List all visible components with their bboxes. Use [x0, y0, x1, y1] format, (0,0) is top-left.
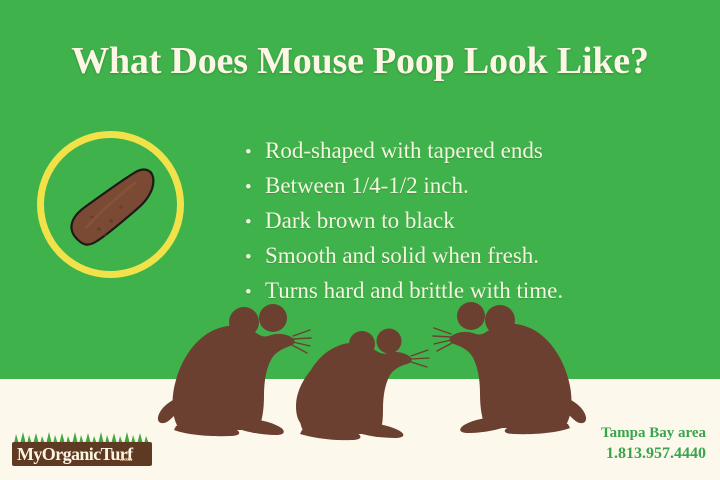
logo-tld: .com: [120, 457, 132, 464]
characteristics-list: • Rod-shaped with tapered ends • Between…: [245, 133, 705, 308]
list-item: • Smooth and solid when fresh.: [245, 238, 705, 273]
service-area-label: Tampa Bay area: [601, 423, 706, 443]
contact-block: Tampa Bay area 1.813.957.4440: [601, 423, 706, 464]
list-item-label: Rod-shaped with tapered ends: [265, 133, 543, 168]
infographic-poster: What Does Mouse Poop Look Like? • Rod-sh…: [0, 0, 720, 480]
list-item: • Rod-shaped with tapered ends: [245, 133, 705, 168]
dropping-badge: [37, 131, 184, 278]
page-title: What Does Mouse Poop Look Like?: [0, 38, 720, 84]
bullet-marker-icon: •: [245, 275, 265, 310]
list-item-label: Dark brown to black: [265, 203, 455, 238]
logo-wordmark: MyOrganicTurf: [17, 443, 133, 465]
list-item: • Dark brown to black: [245, 203, 705, 238]
bullet-marker-icon: •: [245, 170, 265, 205]
list-item-label: Between 1/4-1/2 inch.: [265, 168, 469, 203]
bullet-marker-icon: •: [245, 205, 265, 240]
list-item-label: Smooth and solid when fresh.: [265, 238, 539, 273]
list-item: • Between 1/4-1/2 inch.: [245, 168, 705, 203]
phone-number[interactable]: 1.813.957.4440: [601, 443, 706, 464]
list-item: • Turns hard and brittle with time.: [245, 273, 705, 308]
list-item-label: Turns hard and brittle with time.: [265, 273, 563, 308]
bullet-marker-icon: •: [245, 240, 265, 275]
mouse-dropping-icon: [37, 131, 184, 278]
brand-logo[interactable]: MyOrganicTurf .com: [8, 432, 158, 470]
bullet-marker-icon: •: [245, 135, 265, 170]
